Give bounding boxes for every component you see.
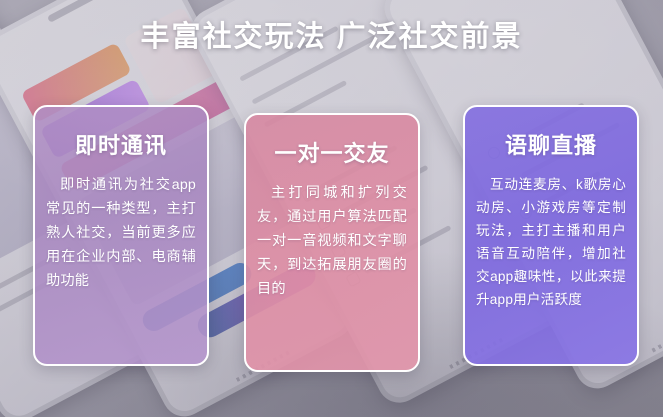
feature-card-body: 互动连麦房、k歌房心动房、小游戏房等定制玩法，主打主播和用户语音互动陪伴，增加社… [476,173,626,311]
feature-card-title: 即时通讯 [46,128,196,160]
feature-card-title: 一对一交友 [257,136,407,168]
page-title: 丰富社交玩法 广泛社交前景 [0,13,663,55]
feature-card-body: 即时通讯为社交app常见的一种类型，主打熟人社交，当前更多应用在企业内部、电商辅… [46,173,196,293]
feature-card-instant-messaging[interactable]: 即时通讯 即时通讯为社交app常见的一种类型，主打熟人社交，当前更多应用在企业内… [33,105,209,366]
promo-banner: 丰富社交玩法 广泛社交前景 即时通讯 即时通讯为社交app常见的一种类型，主打熟… [0,0,663,417]
feature-card-body: 主打同城和扩列交友，通过用户算法匹配一对一音视频和文字聊天，到达拓展朋友圈的目的 [257,181,407,301]
feature-card-one-to-one-dating[interactable]: 一对一交友 主打同城和扩列交友，通过用户算法匹配一对一音视频和文字聊天，到达拓展… [244,113,420,372]
feature-card-voice-chat-live[interactable]: 语聊直播 互动连麦房、k歌房心动房、小游戏房等定制玩法，主打主播和用户语音互动陪… [463,105,639,366]
feature-card-title: 语聊直播 [476,128,626,160]
